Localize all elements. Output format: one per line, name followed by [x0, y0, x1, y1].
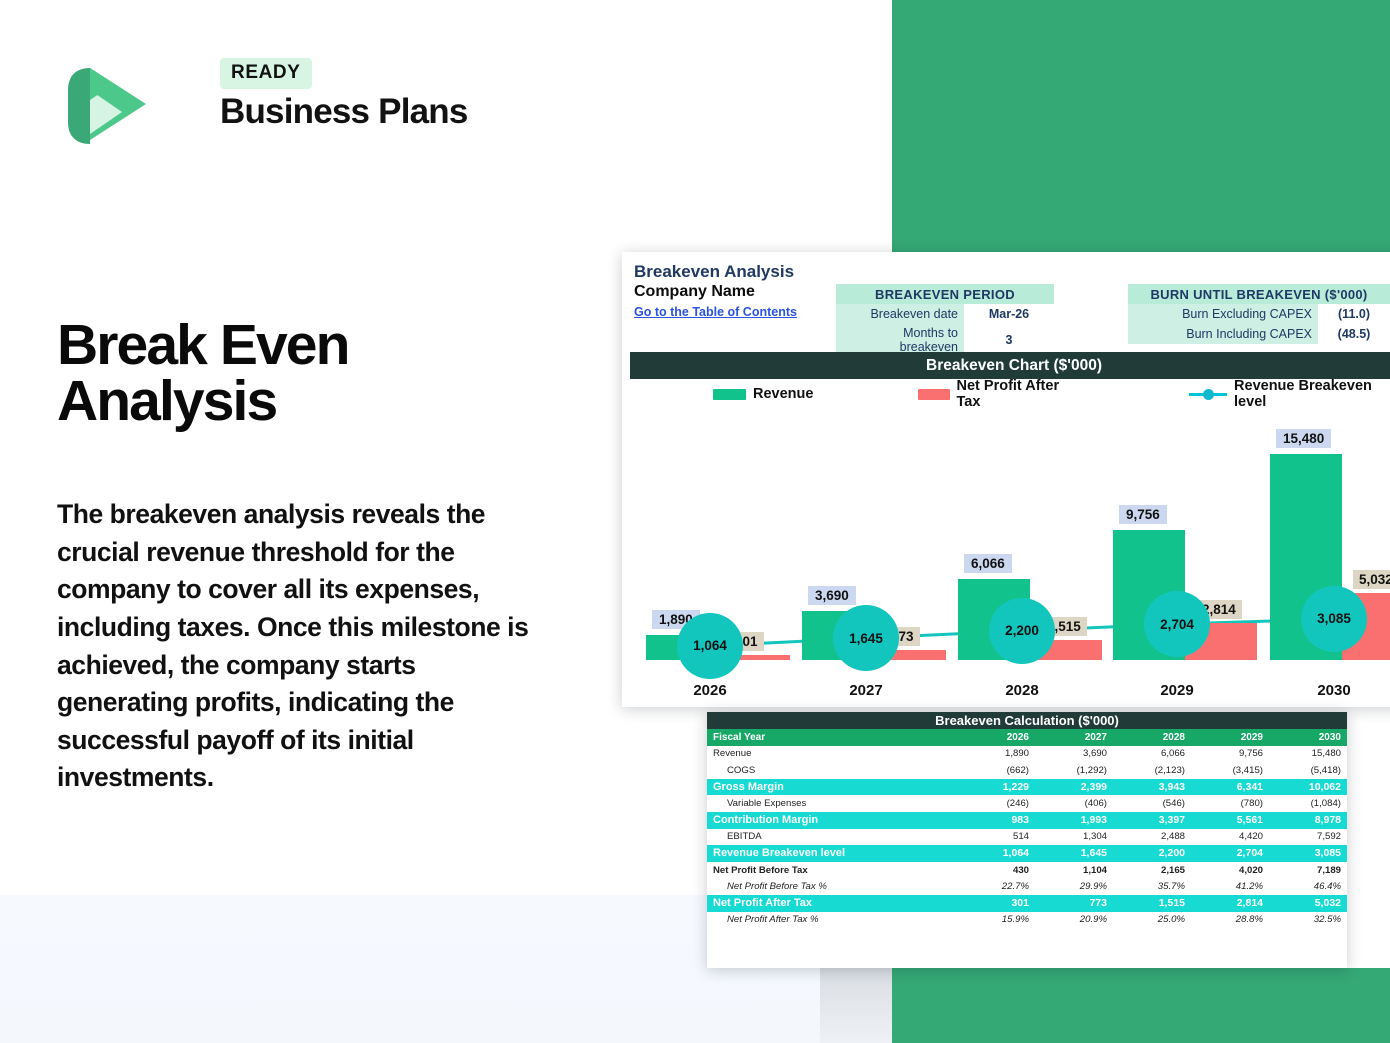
- table-row: EBITDA5141,3042,4884,4207,592: [707, 829, 1347, 846]
- row-label: Revenue Breakeven level: [707, 845, 957, 862]
- row-label: Revenue: [707, 746, 957, 763]
- calc-header-2026: 2026: [957, 729, 1035, 746]
- row-value: (546): [1113, 795, 1191, 812]
- row-value: (1,084): [1269, 795, 1347, 812]
- data-label-net-profit-after-tax-2030: 5,032: [1353, 570, 1390, 589]
- calc-header-2029: 2029: [1191, 729, 1269, 746]
- breakeven-calculation-card: Breakeven Calculation ($'000) Fiscal Yea…: [707, 712, 1347, 968]
- calc-header-fiscal-year: Fiscal Year: [707, 729, 957, 746]
- row-value: 10,062: [1269, 779, 1347, 796]
- row-value: 28.8%: [1191, 912, 1269, 929]
- row-label: Net Profit Before Tax: [707, 862, 957, 879]
- row-value: 3,690: [1035, 746, 1113, 763]
- row-value: 1,515: [1113, 895, 1191, 912]
- row-value: 7,189: [1269, 862, 1347, 879]
- row-value: 6,341: [1191, 779, 1269, 796]
- row-value: 1,064: [957, 845, 1035, 862]
- burn-including-capex-label: Burn Including CAPEX: [1128, 324, 1318, 344]
- row-value: 301: [957, 895, 1035, 912]
- play-triangle-icon: [60, 60, 152, 152]
- row-label: Net Profit Before Tax %: [707, 878, 957, 895]
- row-value: 2,704: [1191, 845, 1269, 862]
- row-label: Net Profit After Tax: [707, 895, 957, 912]
- slide-canvas: READY Business Plans Break Even Analysis…: [0, 0, 1390, 1043]
- breakeven-period-header: BREAKEVEN PERIOD: [836, 284, 1054, 304]
- row-value: 5,032: [1269, 895, 1347, 912]
- row-value: 46.4%: [1269, 878, 1347, 895]
- x-axis-tick-2030: 2030: [1284, 682, 1384, 699]
- row-label: Variable Expenses: [707, 795, 957, 812]
- ready-badge: READY: [220, 58, 312, 89]
- row-value: 22.7%: [957, 878, 1035, 895]
- row-value: 1,993: [1035, 812, 1113, 829]
- burn-until-breakeven-table: BURN UNTIL BREAKEVEN ($'000) Burn Exclud…: [1128, 284, 1390, 344]
- breakeven-calculation-table: Breakeven Calculation ($'000) Fiscal Yea…: [707, 712, 1347, 928]
- row-value: 2,488: [1113, 829, 1191, 846]
- calc-header-2030: 2030: [1269, 729, 1347, 746]
- x-axis-tick-2029: 2029: [1127, 682, 1227, 699]
- burn-excluding-capex-label: Burn Excluding CAPEX: [1128, 304, 1318, 324]
- table-row: Net Profit After Tax3017731,5152,8145,03…: [707, 895, 1347, 912]
- breakeven-period-table: BREAKEVEN PERIOD Breakeven date Mar-26 M…: [836, 284, 1054, 356]
- row-value: (406): [1035, 795, 1113, 812]
- row-value: 4,020: [1191, 862, 1269, 879]
- row-value: (5,418): [1269, 762, 1347, 779]
- table-row: Net Profit Before Tax %22.7%29.9%35.7%41…: [707, 878, 1347, 895]
- table-of-contents-link[interactable]: Go to the Table of Contents: [622, 301, 797, 319]
- row-label: Net Profit After Tax %: [707, 912, 957, 929]
- legend-swatch-net-profit-after-tax: [918, 389, 949, 400]
- row-value: 5,561: [1191, 812, 1269, 829]
- breakeven-date-label: Breakeven date: [836, 304, 964, 324]
- row-value: 2,399: [1035, 779, 1113, 796]
- page-title: Break Even Analysis: [57, 318, 577, 430]
- row-value: 35.7%: [1113, 878, 1191, 895]
- table-row: Net Profit After Tax %15.9%20.9%25.0%28.…: [707, 912, 1347, 929]
- row-value: 1,645: [1035, 845, 1113, 862]
- row-value: 29.9%: [1035, 878, 1113, 895]
- marker-revenue-breakeven-2030[interactable]: 3,085: [1301, 586, 1367, 652]
- burn-header: BURN UNTIL BREAKEVEN ($'000): [1128, 284, 1390, 304]
- table-row: Net Profit Before Tax4301,1042,1654,0207…: [707, 862, 1347, 879]
- data-label-revenue-2030: 15,480: [1276, 429, 1331, 448]
- brand-logo: READY Business Plans: [60, 58, 440, 158]
- row-value: 3,943: [1113, 779, 1191, 796]
- background-green-bottom: [892, 968, 1390, 1043]
- calc-table-header-row: Fiscal Year 2026 2027 2028 2029 2030: [707, 729, 1347, 746]
- row-value: (3,415): [1191, 762, 1269, 779]
- chart-plot-area: 20261,8903011,06420273,6907731,64520286,…: [622, 406, 1390, 707]
- table-row: Variable Expenses(246)(406)(546)(780)(1,…: [707, 795, 1347, 812]
- row-value: 514: [957, 829, 1035, 846]
- row-label: Contribution Margin: [707, 812, 957, 829]
- calc-header-2028: 2028: [1113, 729, 1191, 746]
- brand-name: Business Plans: [220, 92, 468, 132]
- chart-title: Breakeven Chart ($'000): [630, 352, 1390, 379]
- x-axis-tick-2028: 2028: [972, 682, 1072, 699]
- row-value: 983: [957, 812, 1035, 829]
- hero-paragraph: The breakeven analysis reveals the cruci…: [57, 496, 547, 797]
- breakeven-date-value[interactable]: Mar-26: [964, 304, 1054, 324]
- table-row: Revenue1,8903,6906,0669,75615,480: [707, 746, 1347, 763]
- row-value: (780): [1191, 795, 1269, 812]
- row-value: (662): [957, 762, 1035, 779]
- background-gray-gradient: [820, 968, 892, 1043]
- burn-including-capex-value[interactable]: (48.5): [1318, 324, 1390, 344]
- row-value: (2,123): [1113, 762, 1191, 779]
- chart-group-2030: 15,4805,0323,085: [622, 400, 1390, 660]
- legend-marker-breakeven-line: [1189, 393, 1227, 396]
- row-value: 6,066: [1113, 746, 1191, 763]
- row-value: 9,756: [1191, 746, 1269, 763]
- row-value: 1,890: [957, 746, 1035, 763]
- row-value: 3,085: [1269, 845, 1347, 862]
- row-value: 15.9%: [957, 912, 1035, 929]
- table-row: Revenue Breakeven level1,0641,6452,2002,…: [707, 845, 1347, 862]
- row-value: 773: [1035, 895, 1113, 912]
- table-row: Contribution Margin9831,9933,3975,5618,9…: [707, 812, 1347, 829]
- row-value: 430: [957, 862, 1035, 879]
- row-value: 3,397: [1113, 812, 1191, 829]
- background-green-top: [892, 0, 1390, 258]
- row-value: 2,165: [1113, 862, 1191, 879]
- row-value: 7,592: [1269, 829, 1347, 846]
- row-value: (246): [957, 795, 1035, 812]
- row-value: 2,200: [1113, 845, 1191, 862]
- row-value: 4,420: [1191, 829, 1269, 846]
- burn-excluding-capex-value[interactable]: (11.0): [1318, 304, 1390, 324]
- row-value: 25.0%: [1113, 912, 1191, 929]
- table-row: Gross Margin1,2292,3993,9436,34110,062: [707, 779, 1347, 796]
- row-label: COGS: [707, 762, 957, 779]
- row-label: EBITDA: [707, 829, 957, 846]
- row-value: 41.2%: [1191, 878, 1269, 895]
- calc-header-2027: 2027: [1035, 729, 1113, 746]
- legend-swatch-revenue: [713, 389, 746, 400]
- sheet-title: Breakeven Analysis: [622, 252, 1390, 282]
- row-value: 2,814: [1191, 895, 1269, 912]
- row-value: 1,304: [1035, 829, 1113, 846]
- table-row: COGS(662)(1,292)(2,123)(3,415)(5,418): [707, 762, 1347, 779]
- row-value: 1,104: [1035, 862, 1113, 879]
- row-value: 32.5%: [1269, 912, 1347, 929]
- x-axis-tick-2026: 2026: [660, 682, 760, 699]
- x-axis-tick-2027: 2027: [816, 682, 916, 699]
- row-label: Gross Margin: [707, 779, 957, 796]
- row-value: 15,480: [1269, 746, 1347, 763]
- row-value: 1,229: [957, 779, 1035, 796]
- calc-table-title: Breakeven Calculation ($'000): [707, 712, 1347, 729]
- row-value: 8,978: [1269, 812, 1347, 829]
- row-value: (1,292): [1035, 762, 1113, 779]
- row-value: 20.9%: [1035, 912, 1113, 929]
